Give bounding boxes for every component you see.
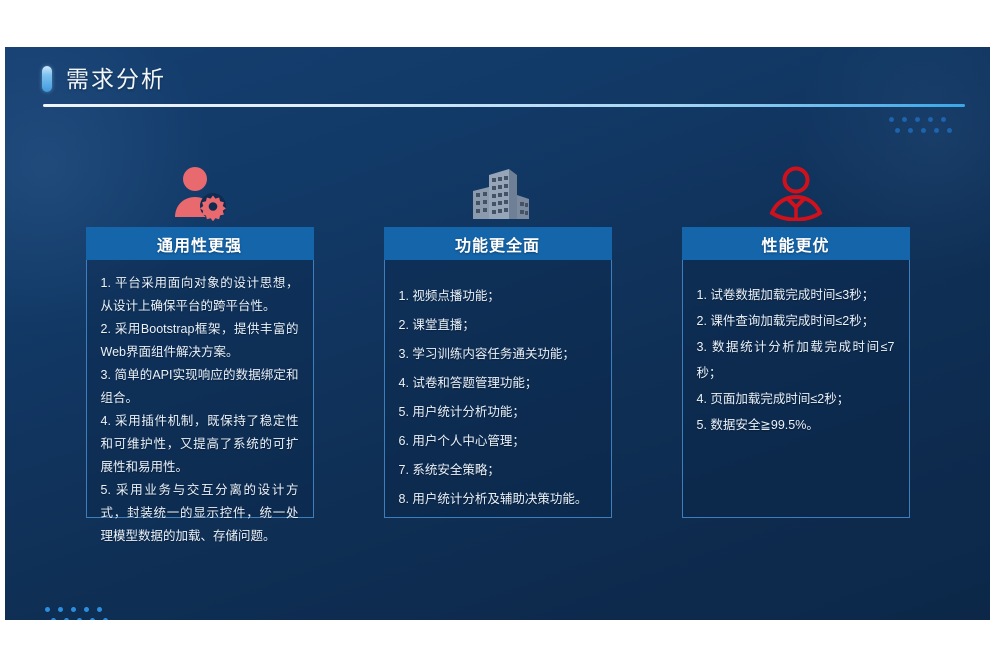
dot bbox=[902, 117, 907, 122]
dot bbox=[934, 128, 939, 133]
feature-card-performance: 性能更优 1. 试卷数据加载完成时间≤3秒； 2. 课件查询加载完成时间≤2秒；… bbox=[682, 147, 910, 518]
dot bbox=[915, 117, 920, 122]
list-item: 7. 系统安全策略； bbox=[399, 456, 597, 485]
dot bbox=[58, 607, 63, 612]
list-item: 4. 页面加载完成时间≤2秒； bbox=[697, 386, 895, 412]
dot bbox=[941, 117, 946, 122]
title-bullet-icon bbox=[42, 66, 52, 92]
dot bbox=[97, 607, 102, 612]
card-icon-wrapper bbox=[171, 147, 229, 221]
dot bbox=[71, 607, 76, 612]
list-item: 4. 试卷和答题管理功能； bbox=[399, 369, 597, 398]
card-title: 通用性更强 bbox=[86, 227, 314, 260]
list-item: 1. 视频点播功能； bbox=[399, 282, 597, 311]
list-item: 2. 课件查询加载完成时间≤2秒； bbox=[697, 308, 895, 334]
dot bbox=[921, 128, 926, 133]
page-title: 需求分析 bbox=[42, 66, 166, 92]
card-body: 1. 平台采用面向对象的设计思想，从设计上确保平台的跨平台性。 2. 采用Boo… bbox=[86, 260, 314, 518]
list-item: 8. 用户统计分析及辅助决策功能。 bbox=[399, 485, 597, 514]
dot bbox=[103, 618, 108, 620]
slide-canvas: 需求分析 bbox=[5, 47, 990, 620]
dot bbox=[895, 128, 900, 133]
list-item: 1. 平台采用面向对象的设计思想，从设计上确保平台的跨平台性。 bbox=[101, 272, 299, 318]
list-item: 1. 试卷数据加载完成时间≤3秒； bbox=[697, 282, 895, 308]
feature-card-functionality: 功能更全面 1. 视频点播功能； 2. 课堂直播； 3. 学习训练内容任务通关功… bbox=[384, 147, 612, 518]
buildings-icon bbox=[467, 165, 529, 221]
dot bbox=[908, 128, 913, 133]
dot bbox=[889, 117, 894, 122]
list-item: 4. 采用插件机制，既保持了稳定性和可维护性，又提高了系统的可扩展性和易用性。 bbox=[101, 410, 299, 479]
dot bbox=[51, 618, 56, 620]
dot bbox=[90, 618, 95, 620]
page-title-text: 需求分析 bbox=[66, 68, 166, 91]
card-item-list: 1. 试卷数据加载完成时间≤3秒； 2. 课件查询加载完成时间≤2秒； 3. 数… bbox=[697, 282, 895, 438]
dot bbox=[77, 618, 82, 620]
person-outline-icon bbox=[769, 165, 823, 221]
feature-card-universality: 通用性更强 1. 平台采用面向对象的设计思想，从设计上确保平台的跨平台性。 2.… bbox=[86, 147, 314, 518]
dot bbox=[928, 117, 933, 122]
list-item: 5. 采用业务与交互分离的设计方式，封装统一的显示控件，统一处理模型数据的加载、… bbox=[101, 479, 299, 548]
list-item: 3. 学习训练内容任务通关功能； bbox=[399, 340, 597, 369]
user-gear-icon bbox=[171, 165, 229, 221]
feature-card-row: 通用性更强 1. 平台采用面向对象的设计思想，从设计上确保平台的跨平台性。 2.… bbox=[5, 147, 990, 518]
list-item: 5. 用户统计分析功能； bbox=[399, 398, 597, 427]
dot bbox=[45, 607, 50, 612]
card-title: 性能更优 bbox=[682, 227, 910, 260]
list-item: 2. 课堂直播； bbox=[399, 311, 597, 340]
list-item: 5. 数据安全≧99.5%。 bbox=[697, 412, 895, 438]
card-item-list: 1. 视频点播功能； 2. 课堂直播； 3. 学习训练内容任务通关功能； 4. … bbox=[399, 282, 597, 514]
card-title: 功能更全面 bbox=[384, 227, 612, 260]
card-item-list: 1. 平台采用面向对象的设计思想，从设计上确保平台的跨平台性。 2. 采用Boo… bbox=[101, 272, 299, 548]
list-item: 3. 数据统计分析加载完成时间≤7秒； bbox=[697, 334, 895, 386]
card-body: 1. 视频点播功能； 2. 课堂直播； 3. 学习训练内容任务通关功能； 4. … bbox=[384, 260, 612, 518]
dot-grid-bottom-left bbox=[45, 607, 110, 620]
dot bbox=[64, 618, 69, 620]
dot bbox=[84, 607, 89, 612]
card-body: 1. 试卷数据加载完成时间≤3秒； 2. 课件查询加载完成时间≤2秒； 3. 数… bbox=[682, 260, 910, 518]
list-item: 6. 用户个人中心管理； bbox=[399, 427, 597, 456]
list-item: 2. 采用Bootstrap框架，提供丰富的Web界面组件解决方案。 bbox=[101, 318, 299, 364]
dot-grid-top-right bbox=[889, 117, 954, 139]
list-item: 3. 简单的API实现响应的数据绑定和组合。 bbox=[101, 364, 299, 410]
header-divider bbox=[43, 104, 965, 107]
dot bbox=[947, 128, 952, 133]
slide-header: 需求分析 bbox=[5, 47, 990, 109]
card-icon-wrapper bbox=[467, 147, 529, 221]
card-icon-wrapper bbox=[769, 147, 823, 221]
